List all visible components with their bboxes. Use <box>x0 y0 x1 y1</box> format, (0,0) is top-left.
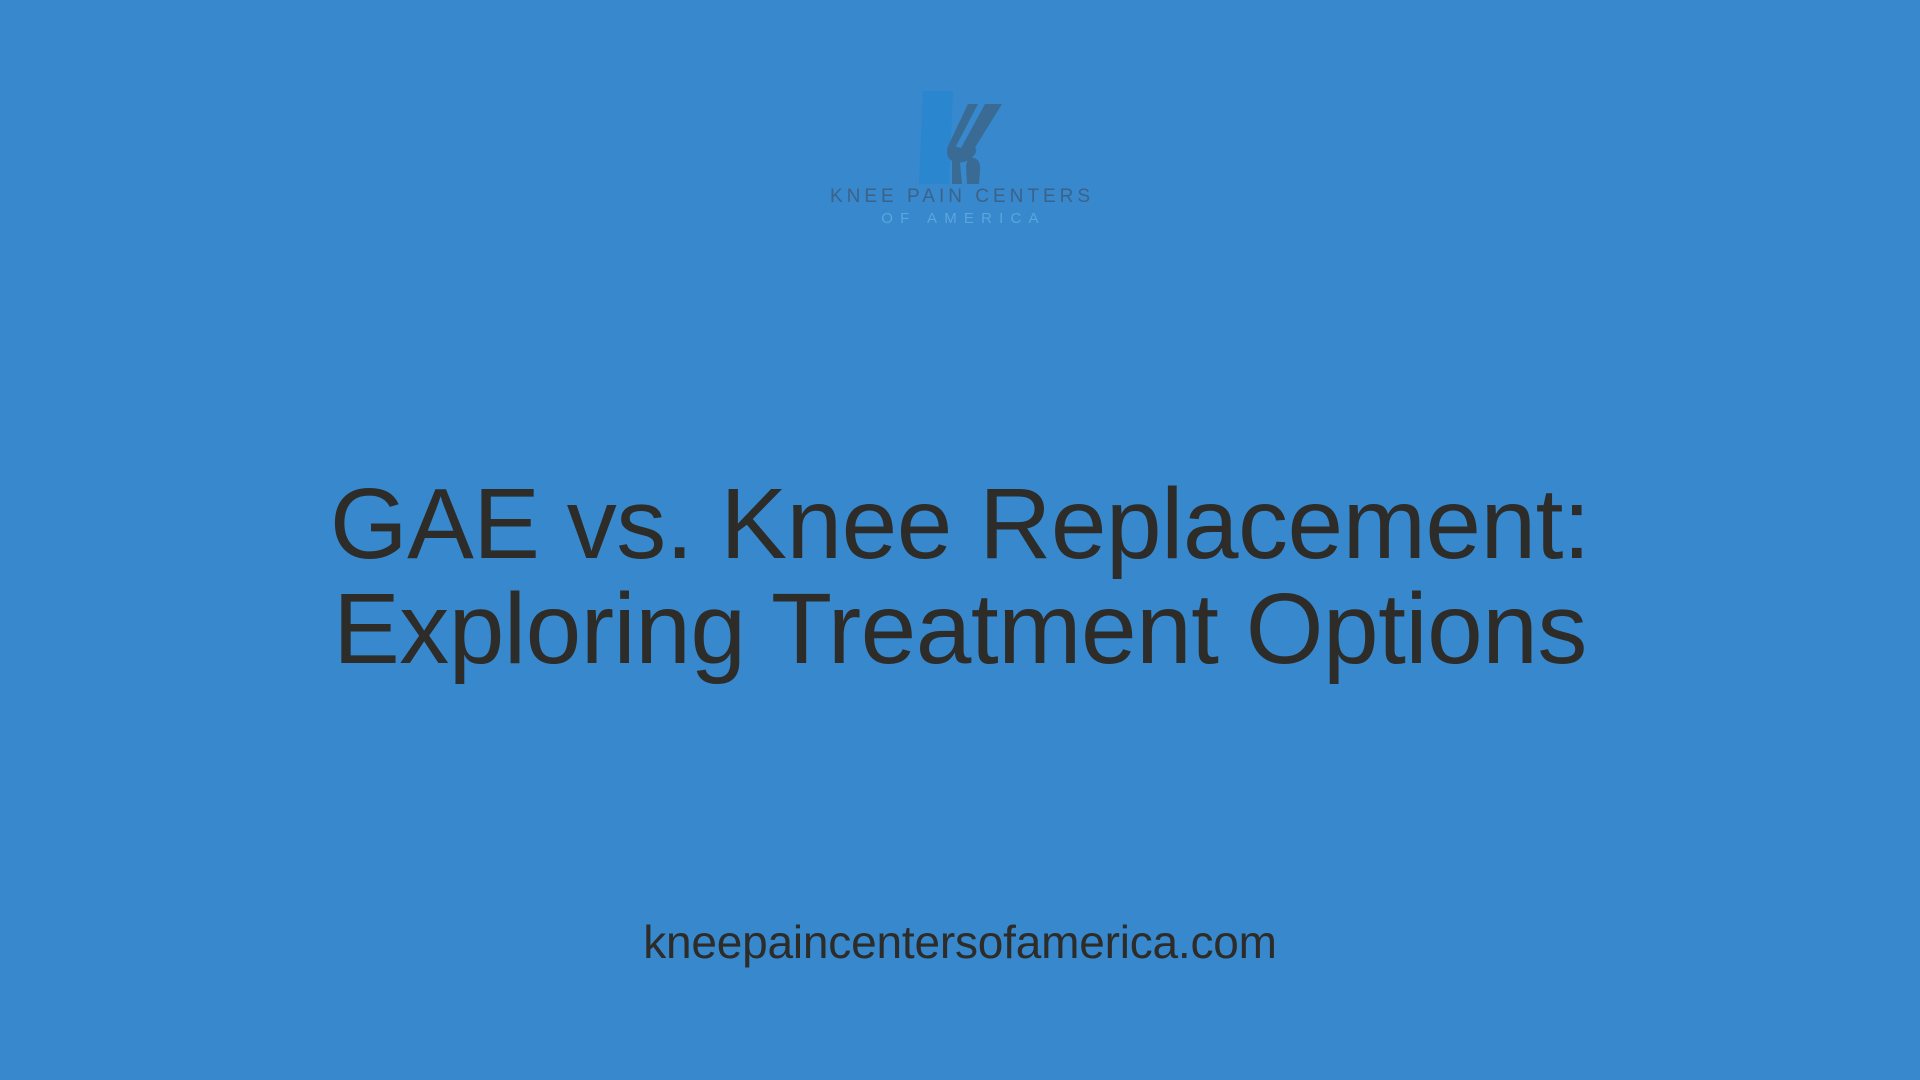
page-title: GAE vs. Knee Replacement: Exploring Trea… <box>0 472 1920 682</box>
page-title-line-1: GAE vs. Knee Replacement: <box>120 472 1800 577</box>
brand-subtitle: OF AMERICA <box>874 211 1046 226</box>
website-url: kneepaincentersofamerica.com <box>0 914 1920 970</box>
page-title-line-2: Exploring Treatment Options <box>120 577 1800 682</box>
brand-lockup: KNEE PAIN CENTERS OF AMERICA <box>0 86 1920 226</box>
title-slide: KNEE PAIN CENTERS OF AMERICA GAE vs. Kne… <box>0 0 1920 1080</box>
knee-joint-k-monogram-icon <box>905 86 1015 189</box>
footer: kneepaincentersofamerica.com <box>0 914 1920 970</box>
brand-name: KNEE PAIN CENTERS <box>826 187 1094 206</box>
brand-wordmark: KNEE PAIN CENTERS OF AMERICA <box>826 187 1094 226</box>
